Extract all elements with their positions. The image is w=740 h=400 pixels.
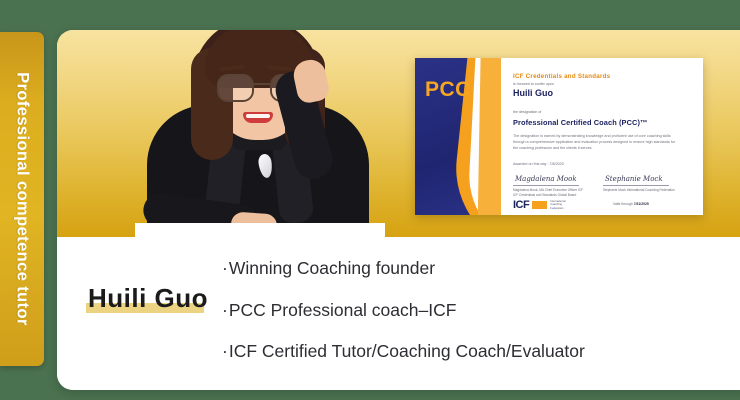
- certificate-caption-right: Stephanie Mock International Coaching Fe…: [603, 188, 675, 193]
- photo-teeth: [246, 114, 270, 119]
- certificate-confer-line: is honored to confer upon: [513, 82, 554, 86]
- icf-wordmark: ICF: [513, 199, 529, 211]
- certificate-issuer-line: ICF Credentials and Standards: [513, 73, 610, 80]
- person-name-wrapper: Huili Guo: [88, 283, 208, 314]
- certificate-signature-left: Magdalena Mook: [515, 175, 577, 183]
- credential-text: ICF Certified Tutor/Coaching Coach/Evalu…: [229, 341, 585, 361]
- certificate-caption-left: Magdalena Mook, MA Chief Executive Offic…: [513, 188, 585, 198]
- credential-text: Winning Coaching founder: [229, 258, 435, 278]
- certificate-icf-logo: ICF International Coaching Federation: [513, 199, 574, 211]
- credential-text: PCC Professional coach–ICF: [229, 300, 457, 320]
- bullet-marker: ·: [222, 341, 228, 361]
- side-tab-label: Professional competence tutor: [13, 72, 32, 326]
- profile-card: PCC ICF Credentials and Standards is hon…: [57, 30, 740, 390]
- photo-glasses-bridge: [252, 83, 270, 85]
- list-item: ·ICF Certified Tutor/Coaching Coach/Eval…: [222, 343, 740, 361]
- certificate-valid-value: 7/31/2025: [634, 202, 649, 206]
- certificate-signature-rule-left: [513, 185, 579, 186]
- certificate-recipient: Huili Guo: [513, 88, 553, 98]
- hero-banner: PCC ICF Credentials and Standards is hon…: [57, 30, 740, 237]
- certificate-swoosh-gold: [477, 58, 501, 215]
- certificate-designation-line: the designation of: [513, 110, 541, 114]
- credential-list: ·Winning Coaching founder ·PCC Professio…: [222, 260, 740, 385]
- certificate-pcc-badge: PCC: [425, 78, 471, 102]
- certificate-awarded-date: Awarded on this day : 7/8/2020: [513, 162, 564, 166]
- photo-desk: [135, 223, 385, 237]
- profile-info: Huili Guo ·Winning Coaching founder ·PCC…: [57, 237, 740, 390]
- certificate-image[interactable]: PCC ICF Credentials and Standards is hon…: [415, 58, 703, 215]
- certificate-signature-right: Stephanie Mock: [605, 175, 663, 183]
- photo-lens-left: [217, 74, 254, 102]
- icf-logo-subtext: International Coaching Federation: [550, 200, 574, 211]
- page-title: Huili Guo: [88, 283, 208, 314]
- list-item: ·PCC Professional coach–ICF: [222, 302, 740, 320]
- icf-accent-bar: [532, 201, 547, 209]
- list-item: ·Winning Coaching founder: [222, 260, 740, 278]
- tutor-photo: [135, 30, 385, 237]
- certificate-signature-rule-right: [603, 185, 669, 186]
- bullet-marker: ·: [222, 258, 228, 278]
- certificate-validity: Valid through 7/31/2025: [613, 202, 649, 206]
- bullet-marker: ·: [222, 300, 228, 320]
- certificate-valid-label: Valid through: [613, 202, 633, 206]
- certificate-designation: Professional Certified Coach (PCC)™: [513, 118, 648, 127]
- certificate-description: The designation is earned by demonstrati…: [513, 133, 681, 151]
- side-tab-professional-competence-tutor[interactable]: Professional competence tutor: [0, 32, 44, 366]
- certificate-body: ICF Credentials and Standards is honored…: [509, 58, 703, 215]
